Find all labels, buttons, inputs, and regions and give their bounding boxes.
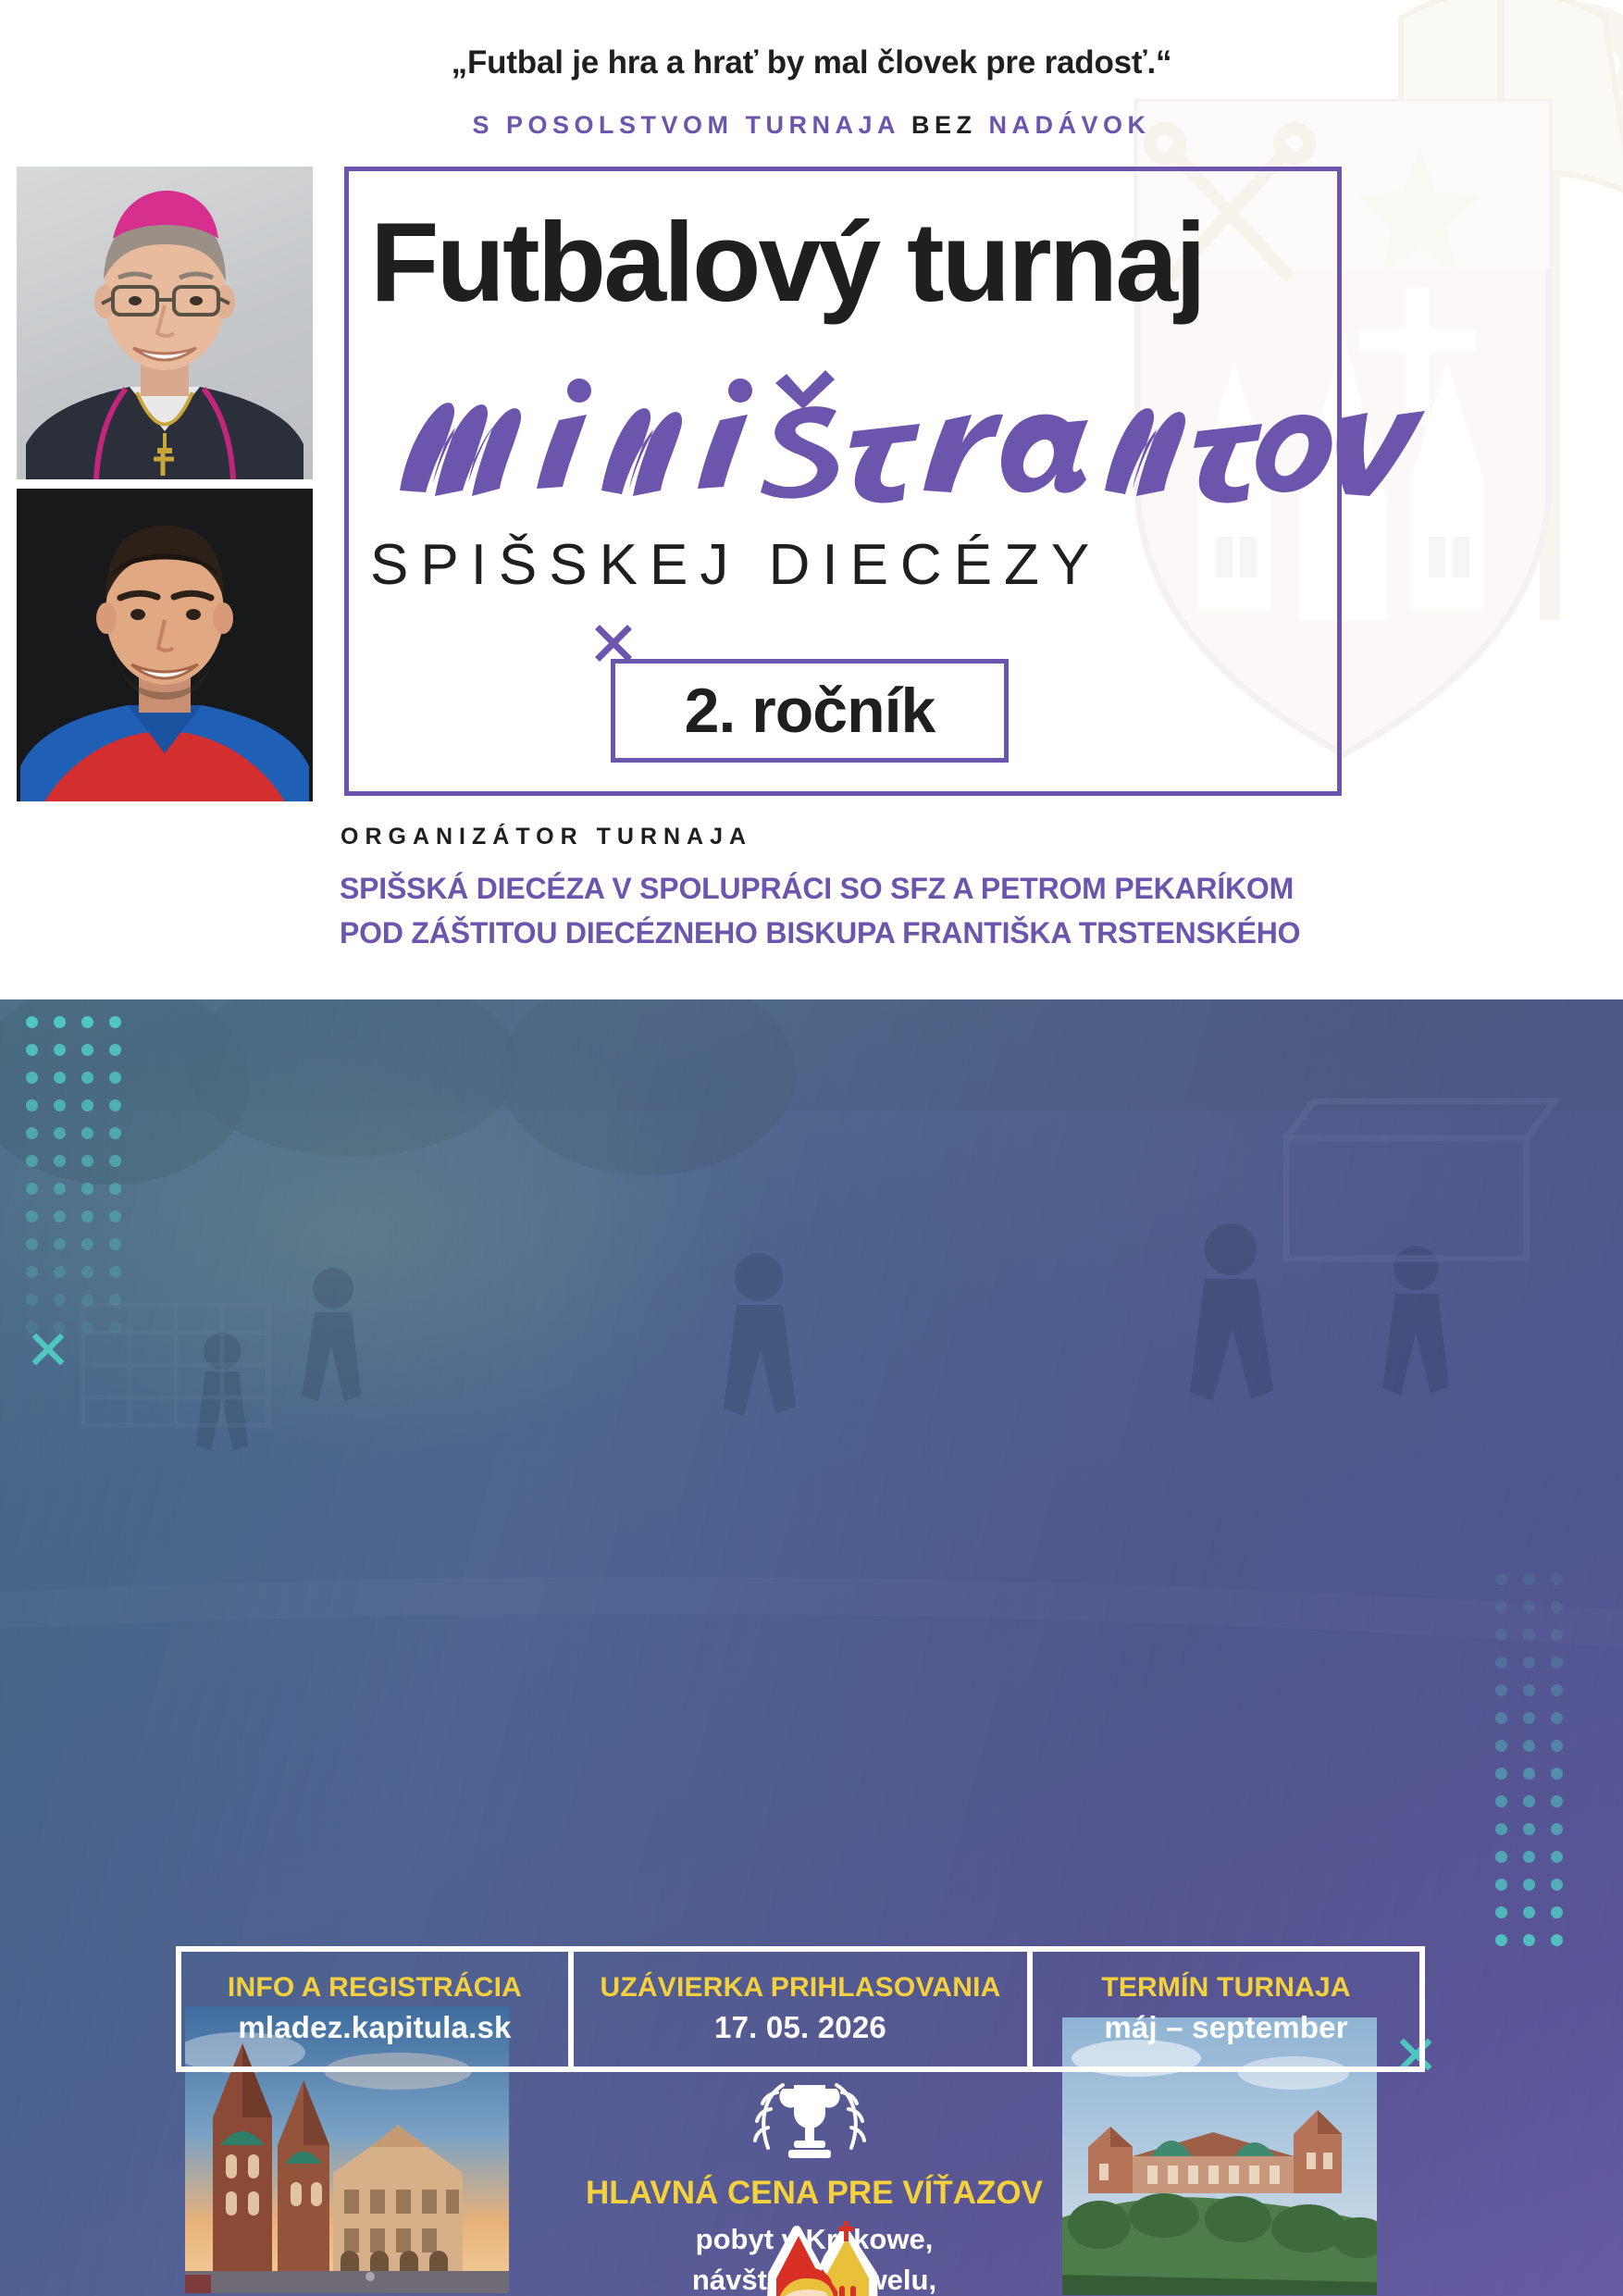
quote-text: „Futbal je hra a hrať by mal človek pre … xyxy=(0,44,1623,81)
info-box-deadline-value: 17. 05. 2026 xyxy=(714,2008,886,2046)
organizer-line-2: POD ZÁŠTITOU DIECÉZNEHO BISKUPA FRANTIŠK… xyxy=(340,916,1300,950)
poster-root: „Futbal je hra a hrať by mal človek pre … xyxy=(0,0,1623,2296)
top-white-section: „Futbal je hra a hrať by mal človek pre … xyxy=(0,0,1623,999)
info-box-registration-value[interactable]: mladez.kapitula.sk xyxy=(238,2008,511,2046)
info-box-registration-title: INFO A REGISTRÁCIA xyxy=(228,1972,522,2004)
tournament-logo: FUTBALOVÝ TURNAJ MINIŠTRANTOV SPIŠSKEJ D… xyxy=(736,2221,907,2296)
organizer-label: ORGANIZÁTOR TURNAJA xyxy=(341,824,752,850)
info-box-term-title: TERMÍN TURNAJA xyxy=(1101,1972,1350,2004)
x-mark-icon xyxy=(592,622,635,664)
info-box-term: TERMÍN TURNAJA máj – september xyxy=(1027,1952,1419,2066)
info-box-term-value: máj – september xyxy=(1104,2008,1347,2046)
title-line-3: SPIŠSKEJ DIECÉZY xyxy=(370,532,1323,598)
title-script-ministrantov xyxy=(368,342,1331,514)
title-line-1: Futbalový turnaj xyxy=(370,205,1323,318)
bottom-photo-section: INFO A REGISTRÁCIA mladez.kapitula.sk UZ… xyxy=(0,999,1623,2296)
subquote-part1: S POSOLSTVOM TURNAJA xyxy=(472,111,911,139)
subquote-part2: NADÁVOK xyxy=(977,111,1151,139)
info-box-registration[interactable]: INFO A REGISTRÁCIA mladez.kapitula.sk xyxy=(181,1952,568,2066)
prize-title: HLAVNÁ CENA PRE VÍŤAZOV xyxy=(518,2175,1110,2212)
subquote-accent: BEZ xyxy=(911,111,977,139)
info-box-deadline-title: UZÁVIERKA PRIHLASOVANIA xyxy=(601,1972,1001,2004)
trophy-icon xyxy=(740,2068,879,2170)
info-box-deadline: UZÁVIERKA PRIHLASOVANIA 17. 05. 2026 xyxy=(568,1952,1027,2066)
organizer-line-1: SPIŠSKÁ DIECÉZA V SPOLUPRÁCI SO SFZ A PE… xyxy=(340,872,1294,906)
edition-label: 2. ročník xyxy=(685,679,935,742)
subquote-text: S POSOLSTVOM TURNAJA BEZ NADÁVOK xyxy=(0,111,1623,140)
dot-pattern-icon-right xyxy=(1495,1573,1597,1990)
player-photo xyxy=(17,489,313,801)
edition-box: 2. ročník xyxy=(611,659,1009,763)
info-boxes-row: INFO A REGISTRÁCIA mladez.kapitula.sk UZ… xyxy=(176,1946,1425,2072)
x-mark-icon-left xyxy=(30,1331,67,1368)
bishop-photo xyxy=(17,167,313,479)
dot-pattern-icon-left xyxy=(26,1016,137,1349)
